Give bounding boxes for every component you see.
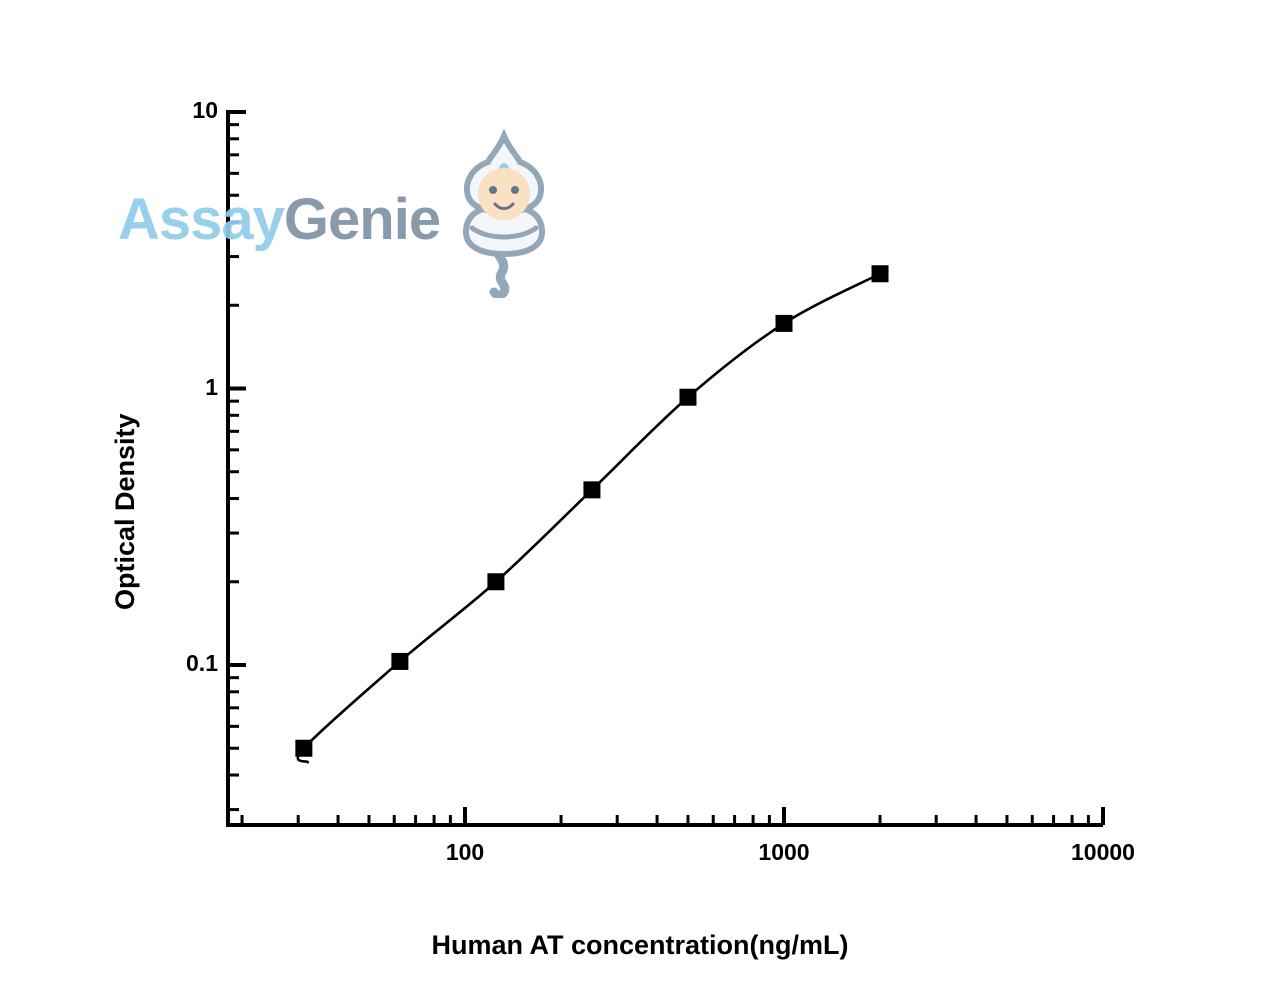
data-point-marker (391, 653, 408, 670)
data-point-marker (583, 481, 600, 498)
x-tick-label: 100 (365, 839, 565, 866)
x-tick-label: 1000 (684, 839, 884, 866)
y-tick-label: 1 (0, 374, 218, 401)
x-tick-label: 10000 (1003, 839, 1203, 866)
chart-figure: 100100010000 0.1110 Human AT concentrati… (0, 0, 1280, 989)
y-axis-ticks (228, 112, 246, 810)
data-point-markers (295, 265, 888, 756)
standard-curve-line (298, 274, 880, 762)
y-tick-label: 0.1 (0, 650, 218, 677)
y-tick-label: 10 (0, 97, 218, 124)
data-point-marker (679, 389, 696, 406)
data-point-marker (487, 573, 504, 590)
y-axis-title: Optical Density (110, 413, 141, 610)
x-axis-ticks (242, 807, 1103, 825)
x-axis-title: Human AT concentration(ng/mL) (0, 930, 1280, 961)
data-point-marker (872, 265, 889, 282)
data-point-marker (776, 315, 793, 332)
data-point-marker (295, 740, 312, 757)
axis-lines (226, 110, 1103, 825)
